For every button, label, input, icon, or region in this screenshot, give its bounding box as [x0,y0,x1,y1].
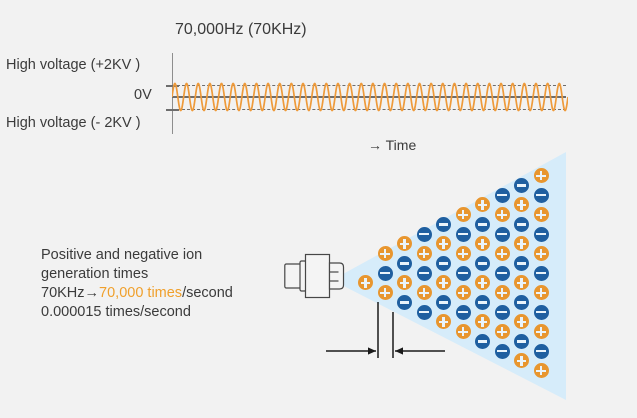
negative-ion [495,344,510,359]
positive-ion [534,324,549,339]
positive-ion [456,246,471,261]
negative-ion [534,266,549,281]
positive-ion [397,275,412,290]
positive-ion [475,236,490,251]
negative-ion [378,266,393,281]
negative-ion [417,227,432,242]
positive-ion [534,285,549,300]
negative-ion [456,305,471,320]
info-line-3-suffix: /second [182,285,233,301]
negative-ion [514,217,529,232]
positive-ion [534,246,549,261]
positive-ion [495,285,510,300]
positive-ion [378,285,393,300]
info-line-3-highlight: 70,000 times [99,285,182,301]
positive-ion [456,207,471,222]
positive-ion [436,236,451,251]
negative-ion [495,227,510,242]
negative-ion [456,266,471,281]
negative-ion [514,178,529,193]
y-axis-label-positive: High voltage (+2KV ) [6,58,140,73]
negative-ion [534,305,549,320]
info-line-3-prefix: 70KHz→ [41,285,99,301]
positive-ion [534,363,549,378]
dimension-callout [318,300,448,362]
negative-ion [397,256,412,271]
positive-ion [495,207,510,222]
negative-ion [534,344,549,359]
negative-ion [436,256,451,271]
positive-ion [514,353,529,368]
negative-ion [514,256,529,271]
info-line-4: 0.000015 times/second [41,303,233,322]
positive-ion [378,246,393,261]
info-text-block: Positive and negative ion generation tim… [41,246,233,322]
positive-ion [475,197,490,212]
positive-ion [417,246,432,261]
negative-ion [495,305,510,320]
positive-ion [436,275,451,290]
negative-ion [514,334,529,349]
positive-ion [534,168,549,183]
negative-ion [495,188,510,203]
positive-ion [358,275,373,290]
info-line-2: generation times [41,265,233,284]
waveform-plot [172,72,568,122]
positive-ion [495,324,510,339]
positive-ion [514,236,529,251]
positive-ion [534,207,549,222]
negative-ion [534,227,549,242]
negative-ion [475,295,490,310]
negative-ion [495,266,510,281]
positive-ion [417,285,432,300]
positive-ion [475,314,490,329]
negative-ion [417,266,432,281]
x-axis-label: → Time [368,138,416,152]
positive-ion [514,314,529,329]
negative-ion [436,217,451,232]
chart-title: 70,000Hz (70KHz) [175,22,307,38]
ion-emitter-device [284,252,350,300]
negative-ion [475,334,490,349]
info-line-1: Positive and negative ion [41,246,233,265]
negative-ion [475,256,490,271]
negative-ion [514,295,529,310]
info-line-3: 70KHz→70,000 times/second [41,284,233,303]
negative-ion [534,188,549,203]
negative-ion [475,217,490,232]
positive-ion [514,275,529,290]
negative-ion [456,227,471,242]
positive-ion [456,285,471,300]
ion-particle-field [332,152,572,400]
positive-ion [475,275,490,290]
positive-ion [456,324,471,339]
y-axis-label-zero: 0V [134,88,152,103]
positive-ion [495,246,510,261]
diagram-canvas: 70,000Hz (70KHz) High voltage (+2KV ) 0V… [0,0,637,418]
positive-ion [397,236,412,251]
positive-ion [514,197,529,212]
y-axis-label-negative: High voltage (- 2KV ) [6,116,141,131]
